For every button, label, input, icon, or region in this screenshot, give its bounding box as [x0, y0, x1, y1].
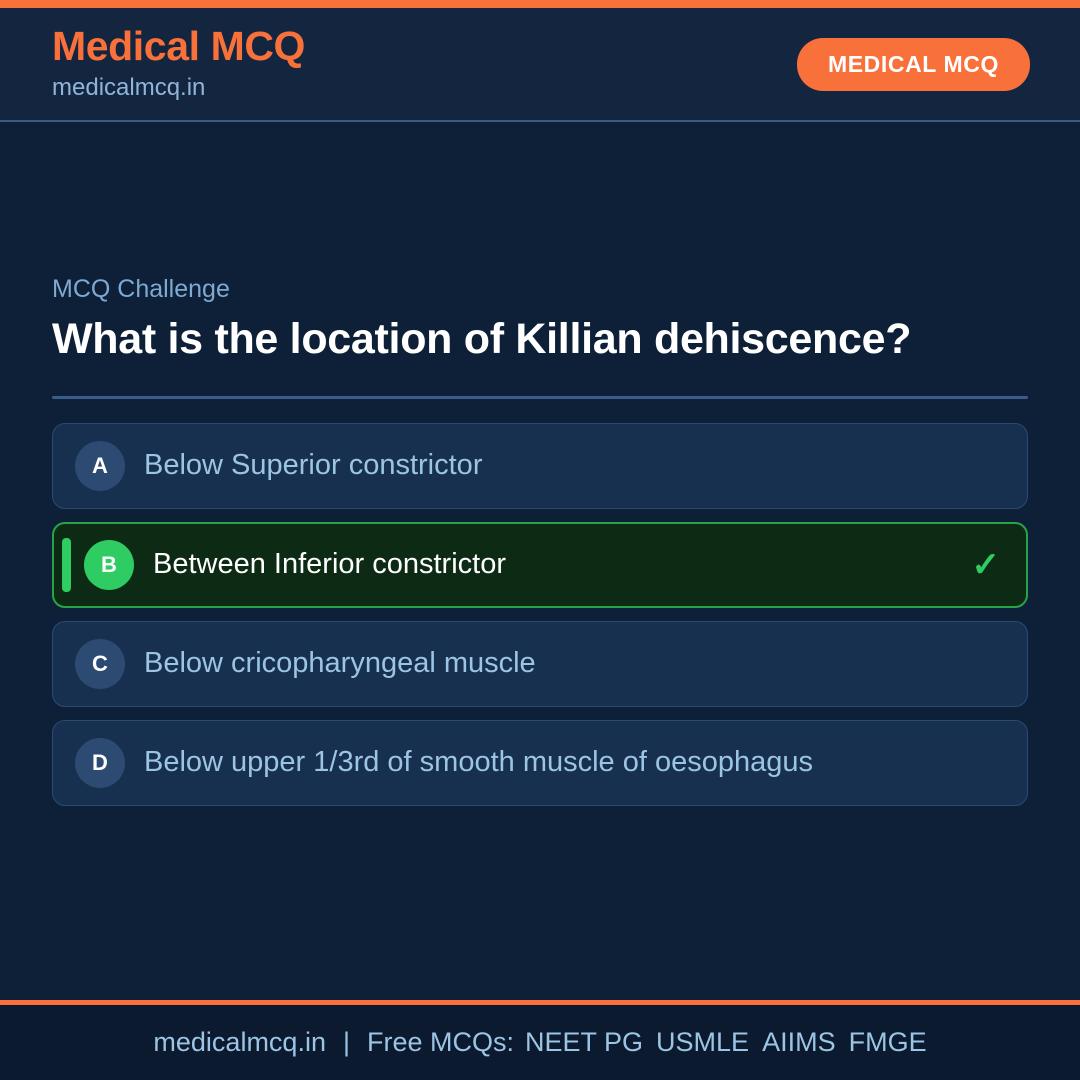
option-c-label: Below cricopharyngeal muscle: [144, 647, 1001, 681]
question-block: MCQ Challenge What is the location of Ki…: [52, 274, 1028, 806]
check-icon: ✓: [972, 548, 1001, 582]
top-accent-bar: [0, 0, 1080, 8]
option-c-letter: C: [75, 639, 125, 689]
brand-subtitle: medicalmcq.in: [52, 72, 305, 103]
correct-accent-bar: [62, 538, 71, 592]
page-header: Medical MCQ medicalmcq.in MEDICAL MCQ: [0, 8, 1080, 122]
brand-title: Medical MCQ: [52, 25, 305, 68]
option-d[interactable]: D Below upper 1/3rd of smooth muscle of …: [52, 720, 1028, 806]
option-b[interactable]: B Between Inferior constrictor ✓: [52, 522, 1028, 608]
footer-row: medicalmcq.in | Free MCQs: NEET PG USMLE…: [153, 1027, 926, 1058]
footer-separator: |: [343, 1027, 350, 1058]
option-c[interactable]: C Below cricopharyngeal muscle: [52, 621, 1028, 707]
footer-label: Free MCQs:: [367, 1027, 514, 1058]
footer-exam-fmge: FMGE: [849, 1027, 927, 1058]
brand-block: Medical MCQ medicalmcq.in: [52, 25, 305, 103]
question-kicker: MCQ Challenge: [52, 274, 1028, 304]
option-b-label: Between Inferior constrictor: [153, 548, 956, 582]
page-title: What is the location of Killian dehiscen…: [52, 313, 932, 366]
option-d-letter: D: [75, 738, 125, 788]
option-a[interactable]: A Below Superior constrictor: [52, 423, 1028, 509]
options-list: A Below Superior constrictor B Between I…: [52, 423, 1028, 806]
footer-exam-neetpg: NEET PG: [525, 1027, 643, 1058]
main-content: MCQ Challenge What is the location of Ki…: [0, 122, 1080, 1000]
option-b-letter: B: [84, 540, 134, 590]
page-footer: medicalmcq.in | Free MCQs: NEET PG USMLE…: [0, 1000, 1080, 1080]
option-d-label: Below upper 1/3rd of smooth muscle of oe…: [144, 746, 1001, 780]
question-divider: [52, 396, 1028, 399]
header-badge: MEDICAL MCQ: [797, 38, 1030, 91]
footer-exam-usmle: USMLE: [656, 1027, 749, 1058]
footer-exam-aiims: AIIMS: [762, 1027, 836, 1058]
option-a-letter: A: [75, 441, 125, 491]
footer-site: medicalmcq.in: [153, 1027, 326, 1058]
option-a-label: Below Superior constrictor: [144, 449, 1001, 483]
